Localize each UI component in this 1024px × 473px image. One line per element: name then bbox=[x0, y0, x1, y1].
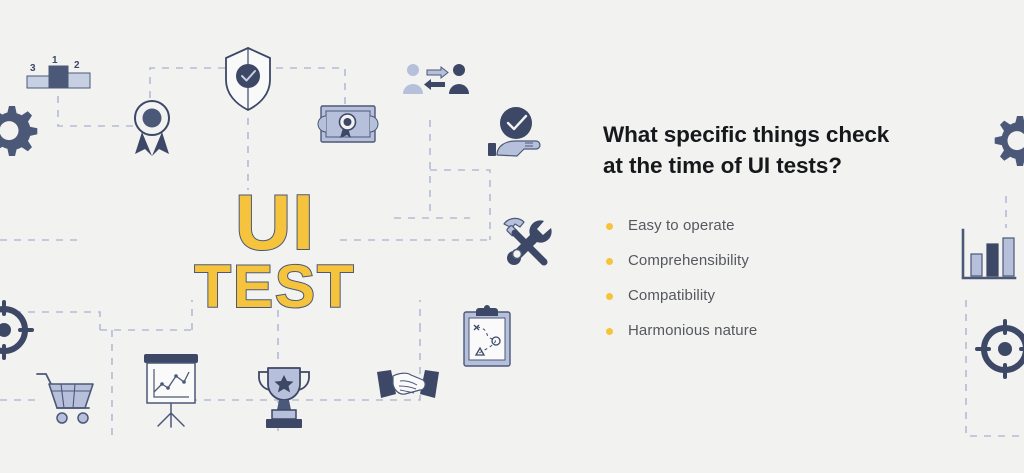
page-title-line-2: at the time of UI tests? bbox=[603, 150, 943, 181]
bullet-dot-icon bbox=[606, 293, 613, 300]
list-item: Easy to operate bbox=[603, 217, 943, 234]
list-item-label: Easy to operate bbox=[628, 217, 735, 234]
list-item: Harmonious nature bbox=[603, 322, 943, 339]
people-exchange-icon bbox=[403, 62, 469, 98]
list-item-label: Comprehensibility bbox=[628, 252, 749, 269]
hand-check-icon bbox=[487, 107, 545, 159]
trophy-icon bbox=[253, 362, 315, 434]
certificate-icon bbox=[320, 105, 376, 143]
list-item-label: Compatibility bbox=[628, 287, 715, 304]
gear-icon-left bbox=[0, 100, 40, 164]
target-icon-right bbox=[974, 318, 1024, 380]
podium-rank-third: 3 bbox=[30, 63, 36, 74]
podium-rank-second: 2 bbox=[74, 60, 80, 71]
page-title-line-1: What specific things check bbox=[603, 122, 889, 147]
wordmark-line-test: TEST bbox=[180, 259, 370, 315]
wordmark-line-ui: UI bbox=[180, 186, 370, 259]
bullet-dot-icon bbox=[606, 328, 613, 335]
shopping-cart-icon bbox=[35, 370, 97, 426]
shield-check-icon bbox=[222, 46, 274, 112]
bar-chart-icon bbox=[957, 228, 1019, 286]
bullet-dot-icon bbox=[606, 258, 613, 265]
bullet-dot-icon bbox=[606, 223, 613, 230]
list-item: Comprehensibility bbox=[603, 252, 943, 269]
tools-icon bbox=[494, 212, 554, 272]
podium-icon: 3 1 2 bbox=[22, 52, 94, 98]
list-item-label: Harmonious nature bbox=[628, 322, 757, 339]
list-item: Compatibility bbox=[603, 287, 943, 304]
clipboard-plan-icon bbox=[463, 305, 511, 367]
infographic-canvas: 3 1 2 bbox=[0, 0, 1024, 473]
target-icon-left bbox=[0, 300, 34, 360]
award-ribbon-icon bbox=[128, 96, 176, 156]
ui-test-wordmark: UI TEST bbox=[180, 186, 370, 316]
handshake-icon bbox=[375, 368, 441, 404]
podium-rank-first: 1 bbox=[52, 55, 58, 66]
checklist: Easy to operate Comprehensibility Compat… bbox=[603, 217, 943, 339]
page-title: What specific things check at the time o… bbox=[603, 119, 943, 181]
content-panel: What specific things check at the time o… bbox=[603, 119, 943, 357]
gear-icon-right bbox=[986, 110, 1024, 174]
presentation-chart-icon bbox=[140, 352, 202, 430]
